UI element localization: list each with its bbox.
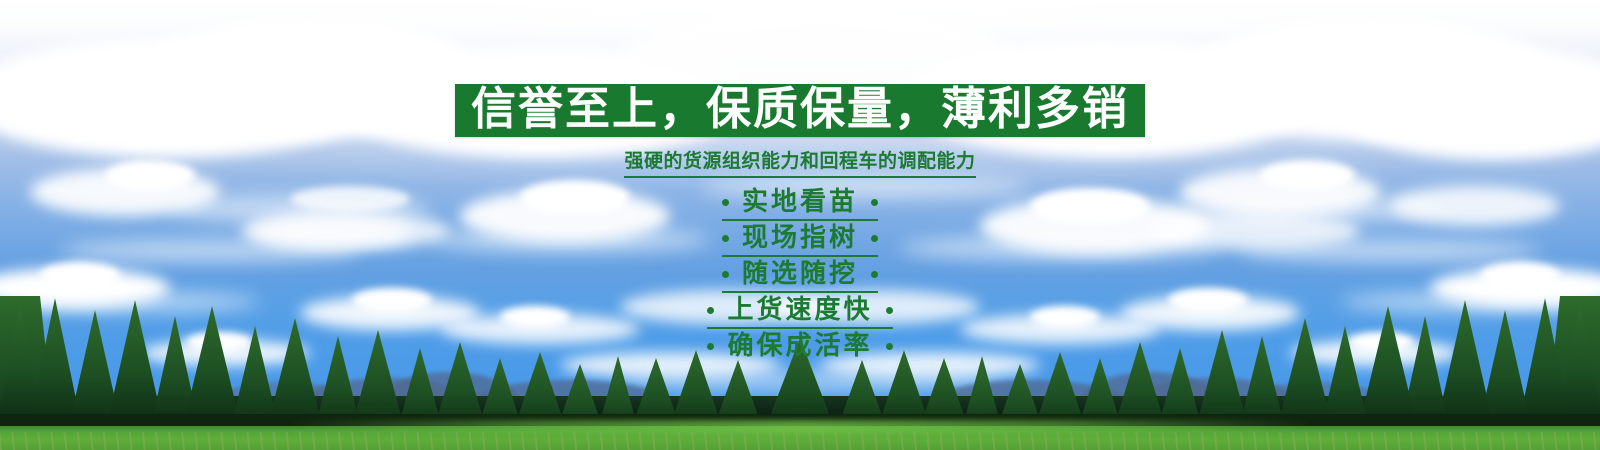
bullet-dot-icon bbox=[722, 199, 729, 206]
feature-label: 现场指树 bbox=[742, 224, 858, 252]
bullet-dot-icon bbox=[871, 271, 878, 278]
feature-row: 确保成活率 bbox=[707, 331, 892, 363]
bullet-dot-icon bbox=[871, 199, 878, 206]
feature-row: 上货速度快 bbox=[707, 295, 892, 329]
headline-text: 信誉至上，保质保量，薄利多销 bbox=[471, 86, 1129, 131]
bullet-dot-icon bbox=[886, 307, 893, 314]
feature-list: 实地看苗 现场指树 随选随挖 上货速度快 确保成活率 bbox=[707, 187, 892, 365]
promo-banner: 信誉至上，保质保量，薄利多销 强硬的货源组织能力和回程车的调配能力 实地看苗 现… bbox=[0, 0, 1600, 450]
bullet-dot-icon bbox=[871, 235, 878, 242]
bullet-dot-icon bbox=[722, 235, 729, 242]
bullet-dot-icon bbox=[707, 307, 714, 314]
feature-label: 上货速度快 bbox=[727, 296, 872, 324]
bullet-dot-icon bbox=[707, 343, 714, 350]
banner-text-block: 信誉至上，保质保量，薄利多销 强硬的货源组织能力和回程车的调配能力 实地看苗 现… bbox=[0, 0, 1600, 450]
feature-row: 实地看苗 bbox=[722, 187, 878, 221]
feature-label: 确保成活率 bbox=[727, 332, 872, 360]
feature-row: 现场指树 bbox=[722, 223, 878, 257]
subheadline-text: 强硬的货源组织能力和回程车的调配能力 bbox=[624, 146, 975, 178]
feature-label: 随选随挖 bbox=[742, 260, 858, 288]
bullet-dot-icon bbox=[722, 271, 729, 278]
headline-bar: 信誉至上，保质保量，薄利多销 bbox=[455, 84, 1145, 137]
feature-row: 随选随挖 bbox=[722, 259, 878, 293]
bullet-dot-icon bbox=[886, 343, 893, 350]
feature-label: 实地看苗 bbox=[742, 188, 858, 216]
